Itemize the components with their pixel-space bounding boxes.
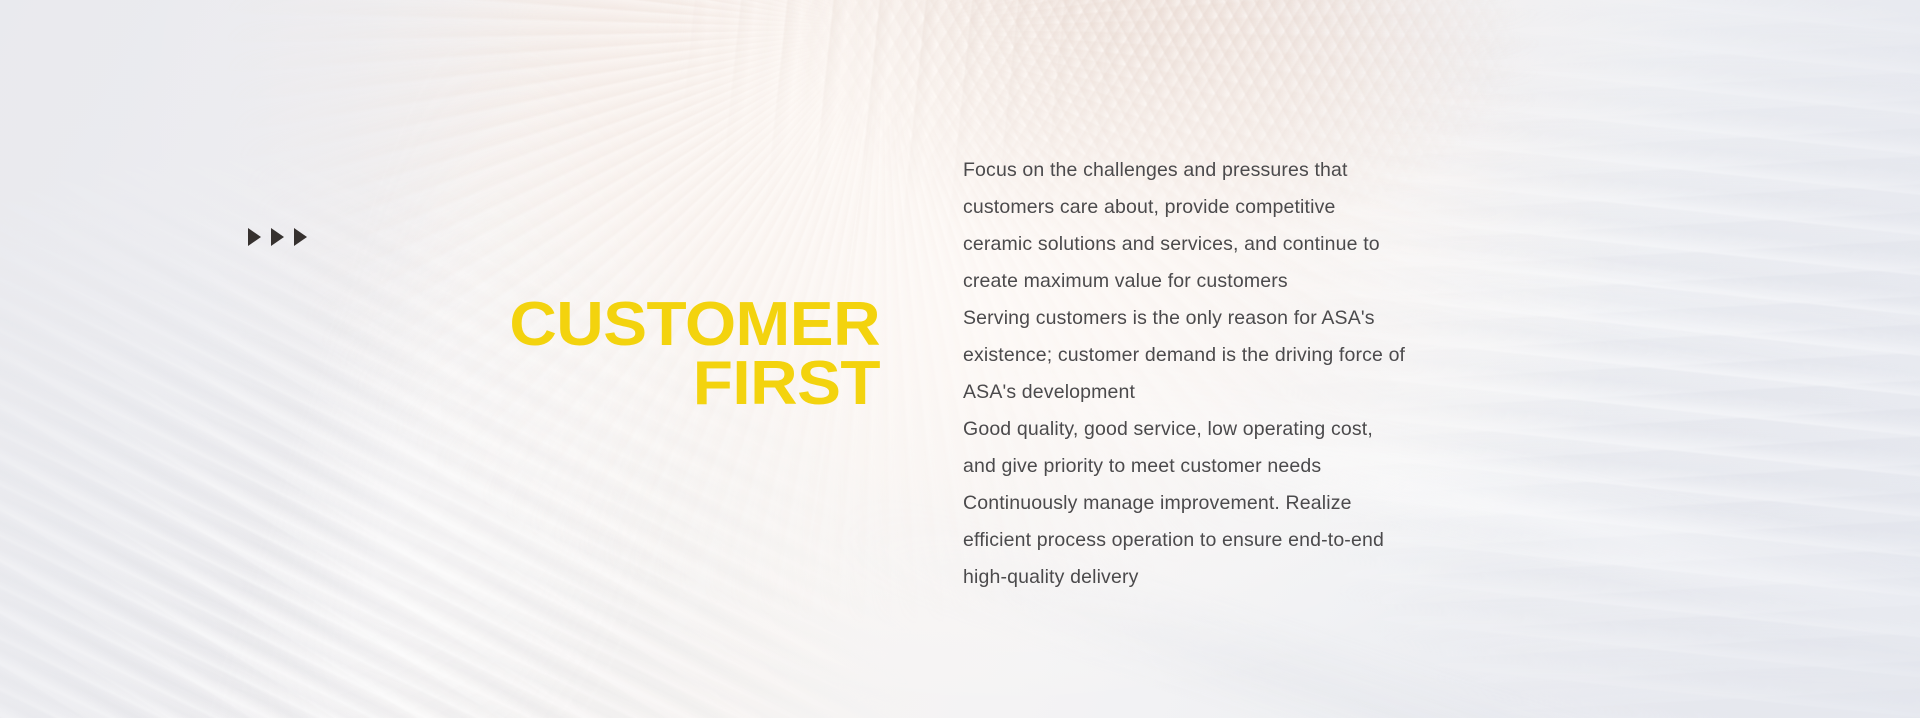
hero-body-text: Focus on the challenges and pressures th…: [963, 152, 1583, 596]
hero-banner: CUSTOMER FIRST Focus on the challenges a…: [0, 0, 1920, 718]
triangle-right-icon: [271, 228, 284, 246]
arrow-marker-group: [248, 228, 307, 246]
triangle-right-icon: [294, 228, 307, 246]
page-title: CUSTOMER FIRST: [276, 296, 880, 414]
triangle-right-icon: [248, 228, 261, 246]
